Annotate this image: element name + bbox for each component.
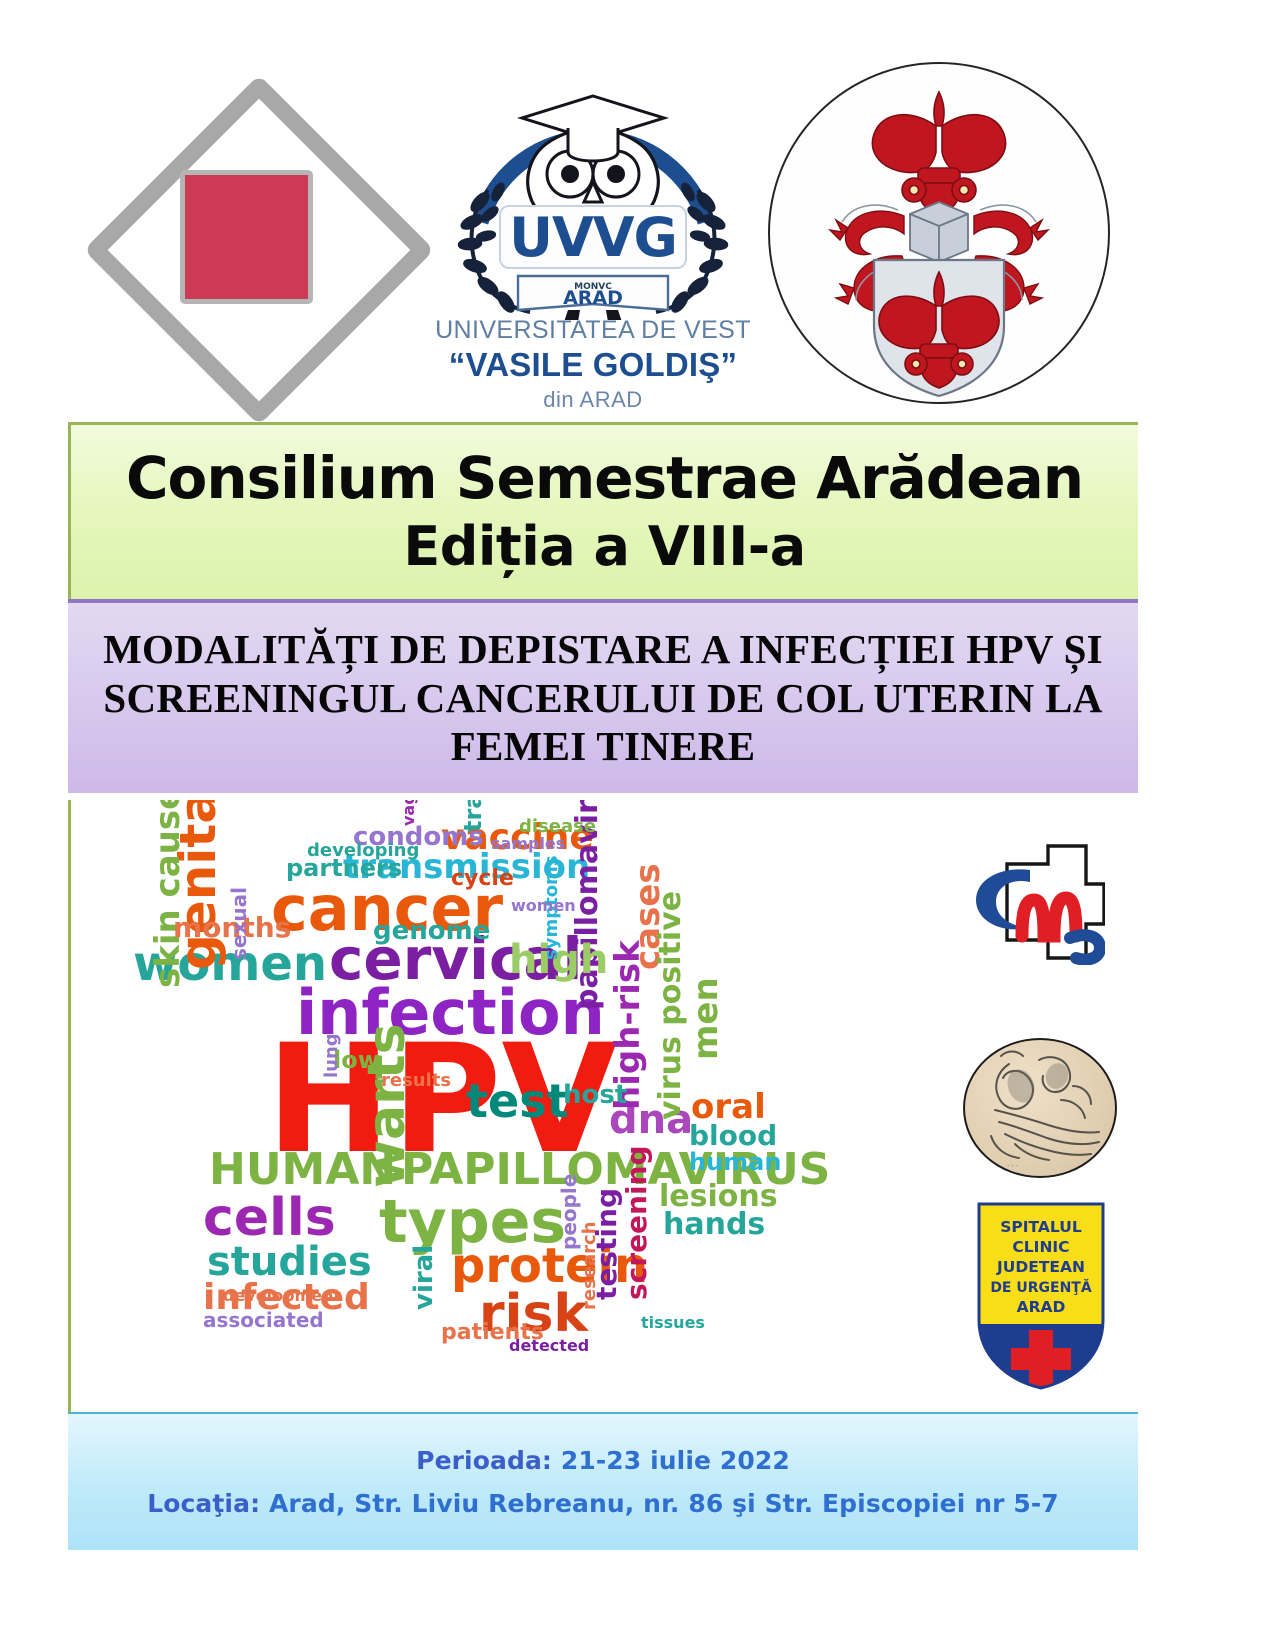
svg-text:UVVG: UVVG [509, 206, 677, 269]
wordcloud-word: cycle [451, 868, 514, 890]
coat-signature: ··· [1066, 369, 1074, 378]
location-line: Locaţia: Arad, Str. Liviu Rebreanu, nr. … [147, 1489, 1059, 1518]
hospital-shield-icon: SPITALUL CLINIC JUDETEAN DE URGENŢĂ ARAD [971, 1200, 1111, 1390]
wordcloud-word: screening [623, 1145, 651, 1300]
wordcloud-word: lung [323, 1033, 341, 1078]
cmr-cross-icon [960, 840, 1105, 965]
wordcloud-word: detected [509, 1338, 589, 1354]
wordcloud-word: hands [663, 1210, 765, 1240]
wordcloud-word: viral [411, 1245, 437, 1310]
hospital-line-3: JUDETEAN [996, 1258, 1085, 1276]
hpv-wordcloud: HPVinfectioncervicalcancerHUMANPAPILLOMA… [111, 810, 901, 1370]
uvvg-line3: din ARAD [418, 387, 768, 413]
wordcloud-word: results [381, 1072, 451, 1090]
uvvg-ribbon-arad: ARAD [563, 287, 623, 309]
vasile-goldis-coat-of-arms: ··· [768, 62, 1110, 404]
wordcloud-word: skin cause [151, 800, 185, 988]
wordcloud-word: test [466, 1078, 569, 1124]
wordcloud-word: host [563, 1082, 627, 1108]
colegiul-medicilor-logo [960, 840, 1105, 965]
wordcloud-word: development [223, 1288, 341, 1304]
period-label: Perioada: [416, 1446, 552, 1475]
wordcloud-word: developing [307, 842, 419, 860]
wordcloud-word: transmitted [461, 800, 485, 832]
wordcloud-word: sexual [229, 887, 249, 960]
wordcloud-word: studies [207, 1242, 372, 1282]
event-title-line2: Ediția a VIII-a [71, 517, 1138, 577]
event-subtitle-text: MODALITĂȚI DE DEPISTARE A INFECȚIEI HPV … [68, 625, 1138, 770]
uvvg-logo: UVVG MONVC ARAD UNIVERSITATEA DE VEST “V… [418, 70, 768, 425]
wordcloud-word: people [559, 1174, 579, 1250]
uvvg-line2: “VASILE GOLDIŞ” [418, 346, 768, 384]
event-title-banner: Consilium Semestrae Arădean Ediția a VII… [68, 422, 1138, 599]
wordcloud-word: women [511, 898, 576, 914]
wordcloud-word: cells [203, 1192, 336, 1244]
period-value: 21-23 iulie 2022 [561, 1446, 790, 1475]
wordcloud-word: research [581, 1221, 599, 1310]
uvvg-emblem-icon: UVVG MONVC ARAD [418, 70, 768, 320]
wordcloud-word: men [689, 977, 723, 1060]
wordcloud-word: blood [689, 1122, 777, 1150]
medallion-figure-icon: · · · [965, 1040, 1115, 1176]
medallion-caption: · · · [1007, 1162, 1018, 1170]
wordcloud-word: tissues [641, 1315, 705, 1331]
diamond-square-logo [62, 52, 422, 414]
wordcloud-word: human [689, 1150, 781, 1174]
wordcloud-word: associated [203, 1310, 324, 1330]
event-details-footer: Perioada: 21-23 iulie 2022 Locaţia: Arad… [68, 1412, 1138, 1550]
wordcloud-word: vaginal [401, 800, 417, 826]
spitalul-clinic-judetean-arad-badge: SPITALUL CLINIC JUDETEAN DE URGENŢĂ ARAD [971, 1200, 1111, 1390]
wordcloud-panel: HPVinfectioncervicalcancerHUMANPAPILLOMA… [68, 800, 1141, 1412]
classical-medallion-sketch: · · · [963, 1038, 1117, 1178]
event-subtitle-banner: MODALITĂȚI DE DEPISTARE A INFECȚIEI HPV … [68, 599, 1138, 793]
hospital-line-4: DE URGENŢĂ [990, 1278, 1092, 1296]
period-line: Perioada: 21-23 iulie 2022 [416, 1446, 790, 1475]
red-square-icon [180, 170, 313, 304]
uvvg-line1: UNIVERSITATEA DE VEST [418, 316, 768, 345]
logo-band: UVVG MONVC ARAD UNIVERSITATEA DE VEST “V… [0, 0, 1275, 425]
wordcloud-word: samples [491, 836, 565, 852]
wordcloud-word: genome [373, 918, 490, 944]
hospital-line-2: CLINIC [1012, 1238, 1069, 1256]
location-label: Locaţia: [147, 1489, 260, 1518]
poster-page: UVVG MONVC ARAD UNIVERSITATEA DE VEST “V… [0, 0, 1275, 1650]
hospital-line-1: SPITALUL [1000, 1218, 1082, 1236]
location-value: Arad, Str. Liviu Rebreanu, nr. 86 şi Str… [269, 1489, 1059, 1518]
hospital-line-5: ARAD [1017, 1298, 1066, 1316]
event-title-line1: Consilium Semestrae Arădean [71, 446, 1138, 511]
wordcloud-word: virus positive [656, 891, 686, 1120]
coat-of-arms-icon: ··· [770, 64, 1108, 402]
